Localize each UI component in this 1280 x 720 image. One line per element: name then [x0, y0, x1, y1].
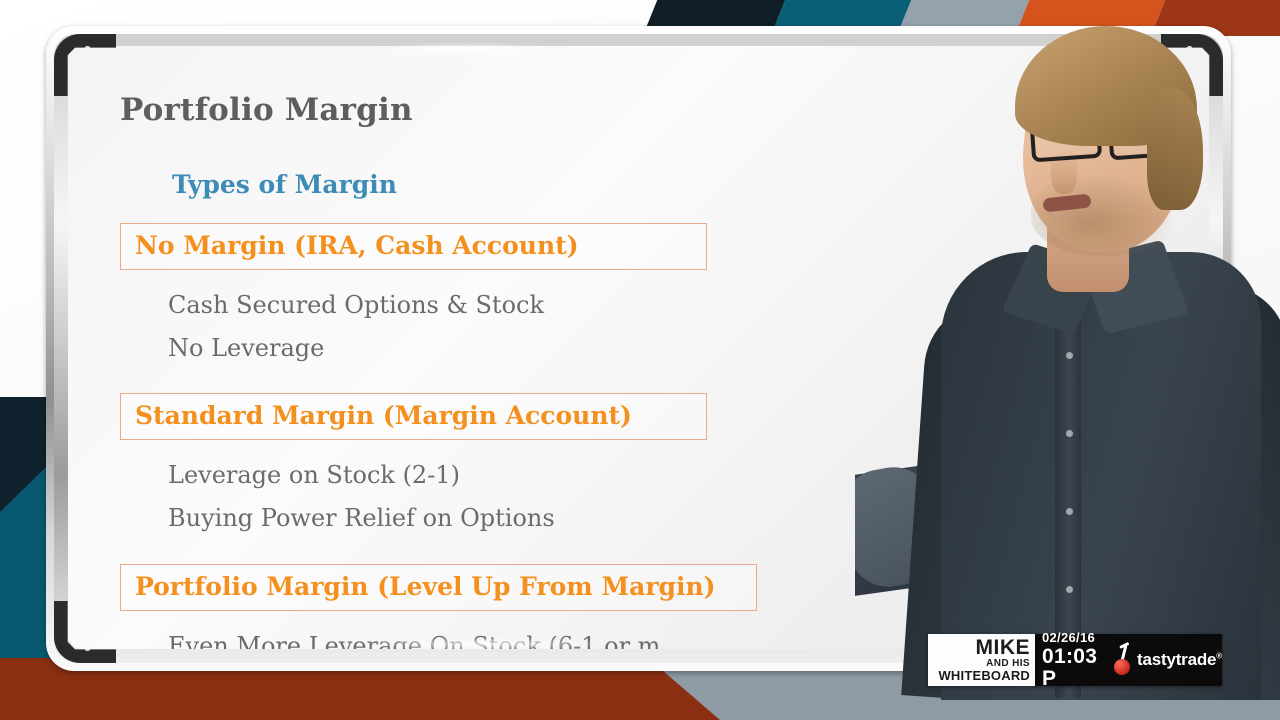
- cherry-icon: [1112, 645, 1134, 675]
- whiteboard-surface: Portfolio Margin Types of Margin No Marg…: [68, 46, 1209, 649]
- whiteboard: Portfolio Margin Types of Margin No Marg…: [46, 26, 1231, 671]
- section-header-standard-margin: Standard Margin (Margin Account): [120, 393, 707, 440]
- bullet-list-standard-margin: Leverage on Stock (2-1) Buying Power Rel…: [168, 454, 1169, 539]
- list-item: No Leverage: [168, 327, 1169, 370]
- show-title-panel: MIKE AND HIS WHITEBOARD: [928, 634, 1035, 686]
- bullet-list-no-margin: Cash Secured Options & Stock No Leverage: [168, 284, 1169, 369]
- page-title: Portfolio Margin: [120, 92, 1169, 128]
- cherry-fruit-icon: [1114, 659, 1130, 675]
- section-header-portfolio-margin: Portfolio Margin (Level Up From Margin): [120, 564, 757, 611]
- slide-content: Portfolio Margin Types of Margin No Marg…: [68, 46, 1209, 649]
- broadcast-stage: Portfolio Margin Types of Margin No Marg…: [0, 0, 1280, 720]
- timestamp-block: 02/26/16 01:03 P: [1042, 630, 1103, 690]
- list-item: Buying Power Relief on Options: [168, 497, 1169, 540]
- slide-subtitle: Types of Margin: [172, 170, 1169, 199]
- brand-name: tastytrade®: [1137, 650, 1222, 670]
- broadcast-date: 02/26/16: [1042, 630, 1103, 646]
- broadcast-time: 01:03 P: [1042, 646, 1103, 690]
- brand-registered-mark: ®: [1216, 651, 1222, 660]
- margin-section-no-margin: No Margin (IRA, Cash Account) Cash Secur…: [120, 223, 1169, 369]
- brand-name-text: tastytrade: [1137, 650, 1216, 669]
- section-header-no-margin: No Margin (IRA, Cash Account): [120, 223, 707, 270]
- brand-logo: tastytrade®: [1112, 645, 1222, 675]
- show-title-line-3: WHITEBOARD: [938, 669, 1030, 682]
- lower-third-banner: MIKE AND HIS WHITEBOARD 02/26/16 01:03 P…: [928, 634, 1222, 686]
- list-item: Cash Secured Options & Stock: [168, 284, 1169, 327]
- list-item: Leverage on Stock (2-1): [168, 454, 1169, 497]
- whiteboard-frame: Portfolio Margin Types of Margin No Marg…: [46, 26, 1231, 671]
- margin-section-standard-margin: Standard Margin (Margin Account) Leverag…: [120, 393, 1169, 539]
- timestamp-brand-panel: 02/26/16 01:03 P tastytrade®: [1035, 634, 1222, 686]
- show-title-line-1: MIKE: [976, 638, 1031, 658]
